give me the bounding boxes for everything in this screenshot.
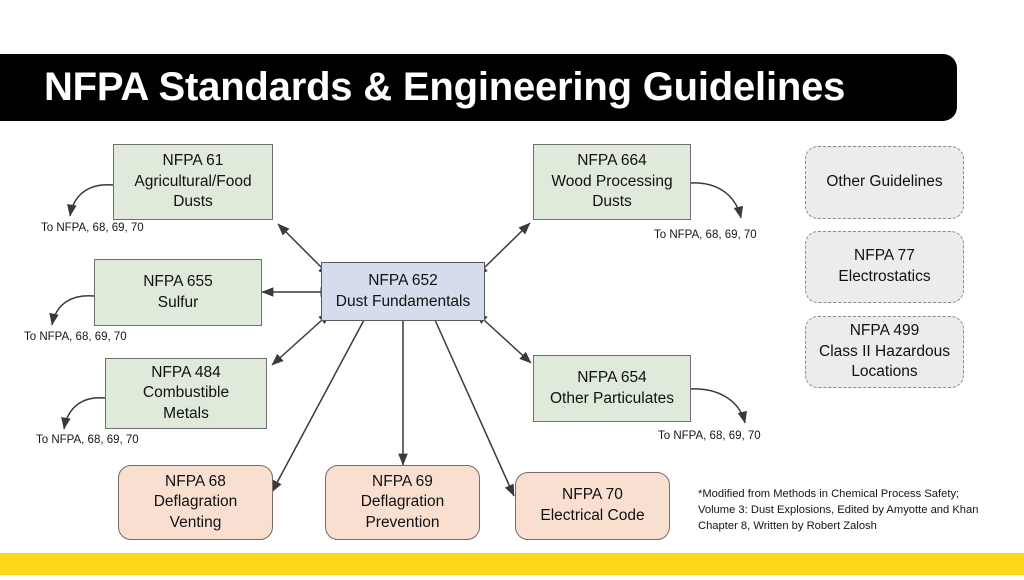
node-nfpa-69-line3: Prevention — [365, 513, 439, 534]
node-nfpa-77-line1: NFPA 77 — [854, 246, 915, 267]
node-other-guidelines-line1: Other Guidelines — [826, 172, 942, 193]
curve-nfpa-664-to-caption — [691, 183, 741, 218]
node-nfpa-499-line3: Locations — [851, 362, 917, 383]
node-nfpa-654-line2: Other Particulates — [550, 389, 674, 410]
footnote-line3: Chapter 8, Written by Robert Zalosh — [698, 518, 998, 534]
node-nfpa-68[interactable]: NFPA 68 Deflagration Venting — [118, 465, 273, 540]
page-title: NFPA Standards & Engineering Guidelines — [0, 65, 845, 110]
title-banner: NFPA Standards & Engineering Guidelines — [0, 54, 957, 121]
node-nfpa-70[interactable]: NFPA 70 Electrical Code — [515, 472, 670, 540]
node-nfpa-61[interactable]: NFPA 61 Agricultural/Food Dusts — [113, 144, 273, 220]
connector-652-to-484 — [272, 320, 322, 365]
caption-nfpa-484: To NFPA, 68, 69, 70 — [36, 434, 139, 446]
node-nfpa-664-line1: NFPA 664 — [577, 151, 647, 172]
node-nfpa-499[interactable]: NFPA 499 Class II Hazardous Locations — [805, 316, 964, 388]
node-nfpa-68-line1: NFPA 68 — [165, 472, 226, 493]
node-nfpa-77-line2: Electrostatics — [838, 267, 930, 288]
connector-652-to-664 — [484, 223, 530, 268]
node-nfpa-61-line3: Dusts — [173, 192, 213, 213]
curve-nfpa-484-to-caption — [64, 398, 105, 429]
footer-accent-bar — [0, 553, 1024, 575]
slide-canvas: NFPA Standards & Engineering Guidelines — [0, 0, 1024, 580]
caption-nfpa-664: To NFPA, 68, 69, 70 — [654, 229, 757, 241]
node-nfpa-655-line1: NFPA 655 — [143, 272, 213, 293]
node-nfpa-77[interactable]: NFPA 77 Electrostatics — [805, 231, 964, 303]
node-nfpa-655-line2: Sulfur — [158, 293, 199, 314]
node-nfpa-484[interactable]: NFPA 484 Combustible Metals — [105, 358, 267, 429]
node-other-guidelines[interactable]: Other Guidelines — [805, 146, 964, 219]
curve-nfpa-654-to-caption — [691, 389, 745, 423]
node-nfpa-69[interactable]: NFPA 69 Deflagration Prevention — [325, 465, 480, 540]
node-nfpa-61-line2: Agricultural/Food — [134, 172, 251, 193]
node-nfpa-664-line3: Dusts — [592, 192, 632, 213]
node-nfpa-499-line2: Class II Hazardous — [819, 342, 950, 363]
curve-nfpa-655-to-caption — [52, 296, 94, 325]
node-nfpa-484-line1: NFPA 484 — [151, 363, 221, 384]
node-nfpa-654-line1: NFPA 654 — [577, 368, 647, 389]
connector-652-to-61 — [278, 224, 322, 268]
node-nfpa-70-line1: NFPA 70 — [562, 485, 623, 506]
caption-nfpa-655: To NFPA, 68, 69, 70 — [24, 331, 127, 343]
node-nfpa-70-line2: Electrical Code — [540, 506, 644, 527]
node-nfpa-484-line2: Combustible — [143, 383, 229, 404]
node-nfpa-499-line1: NFPA 499 — [850, 321, 920, 342]
footnote: *Modified from Methods in Chemical Proce… — [698, 486, 998, 535]
node-nfpa-484-line3: Metals — [163, 404, 209, 425]
node-nfpa-69-line2: Deflagration — [361, 492, 445, 513]
caption-nfpa-61: To NFPA, 68, 69, 70 — [41, 222, 144, 234]
node-nfpa-652-line1: NFPA 652 — [368, 271, 438, 292]
node-nfpa-61-line1: NFPA 61 — [163, 151, 224, 172]
node-nfpa-69-line1: NFPA 69 — [372, 472, 433, 493]
connector-652-to-654 — [484, 320, 531, 363]
node-nfpa-652-line2: Dust Fundamentals — [336, 292, 470, 313]
node-nfpa-652[interactable]: NFPA 652 Dust Fundamentals — [321, 262, 485, 321]
node-nfpa-68-line2: Deflagration — [154, 492, 238, 513]
node-nfpa-664[interactable]: NFPA 664 Wood Processing Dusts — [533, 144, 691, 220]
curve-nfpa-61-to-caption — [70, 185, 113, 216]
node-nfpa-68-line3: Venting — [170, 513, 222, 534]
node-nfpa-655[interactable]: NFPA 655 Sulfur — [94, 259, 262, 326]
node-nfpa-654[interactable]: NFPA 654 Other Particulates — [533, 355, 691, 422]
footnote-line2: Volume 3: Dust Explosions, Edited by Amy… — [698, 502, 998, 518]
node-nfpa-664-line2: Wood Processing — [551, 172, 672, 193]
caption-nfpa-654: To NFPA, 68, 69, 70 — [658, 430, 761, 442]
footnote-line1: *Modified from Methods in Chemical Proce… — [698, 486, 998, 502]
